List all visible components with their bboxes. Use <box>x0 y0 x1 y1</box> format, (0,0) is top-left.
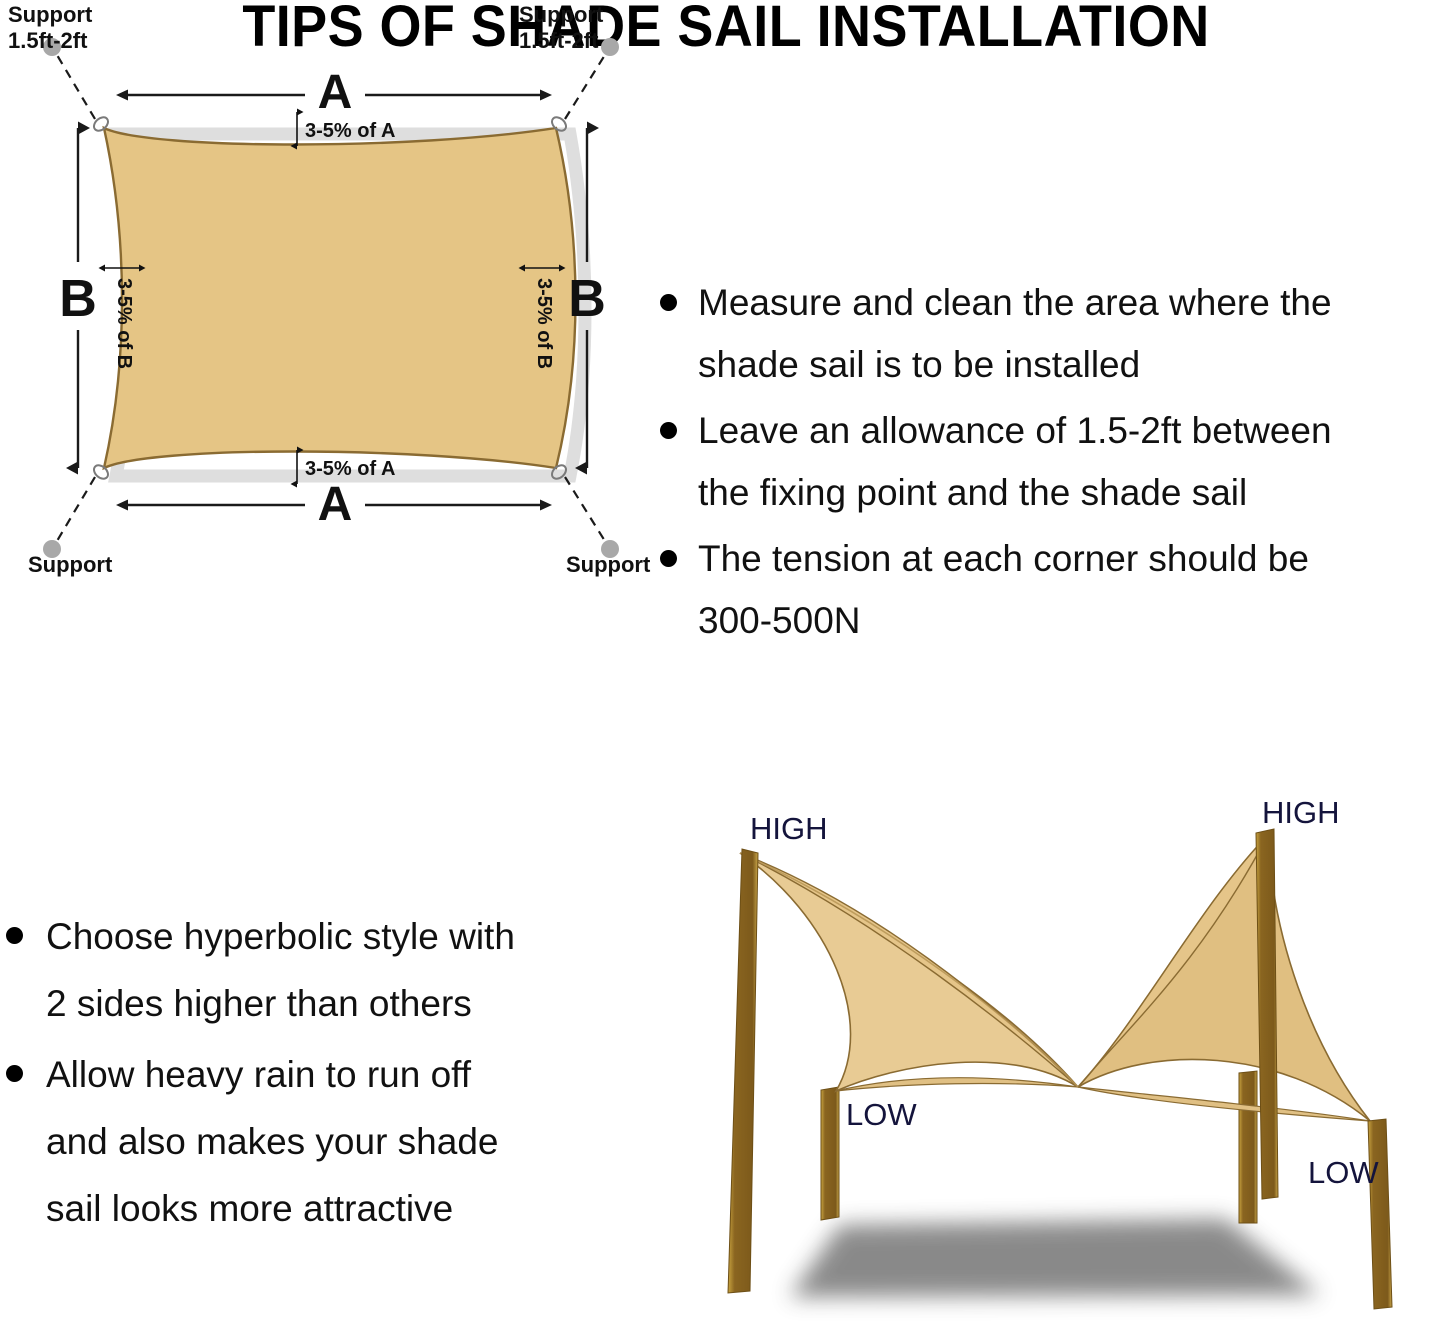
installation-tips-list-top: Measure and clean the area where the sha… <box>652 272 1452 656</box>
curve-callout-a-bottom-label: 3-5% of A <box>305 458 395 480</box>
tip-line: sail looks more attractive <box>46 1188 453 1229</box>
list-item: Choose hyperbolic style with 2 sides hig… <box>0 903 620 1037</box>
curve-callout-b-left-label: 3-5% of B <box>113 278 135 369</box>
tip-line: Leave an allowance of 1.5-2ft between <box>698 410 1332 451</box>
dimension-b-right-label: B <box>568 270 606 328</box>
pole-low-left <box>821 1087 839 1220</box>
pole-low-right <box>1368 1119 1392 1309</box>
tip-line: 2 sides higher than others <box>46 983 472 1024</box>
tip-line: shade sail is to be installed <box>698 344 1140 385</box>
sail-shape <box>104 128 576 468</box>
support-label-line2: 1.5ft-2ft <box>566 578 646 580</box>
support-label-top-left: Support 1.5ft-2ft <box>8 2 93 53</box>
curve-callout-b-right-label: 3-5% of B <box>533 278 555 369</box>
bullet-dot-icon <box>660 422 677 439</box>
bullet-dot-icon <box>6 927 23 944</box>
support-dot-top-right <box>601 38 619 56</box>
pole-high-right <box>1256 829 1278 1199</box>
label-low-right: LOW <box>1308 1155 1379 1190</box>
rectangular-sail-diagram: Support 1.5ft-2ft Support 1.5ft-2ft Supp… <box>0 0 680 580</box>
list-item: Allow heavy rain to run off and also mak… <box>0 1041 620 1242</box>
curve-callout-a-bottom: 3-5% of A <box>297 450 395 484</box>
dimension-a-top-label: A <box>318 66 353 119</box>
hyperbolic-sail-illustration: HIGH HIGH LOW LOW <box>680 795 1452 1325</box>
dimension-b-left: B <box>59 128 97 468</box>
bullet-dot-icon <box>660 294 677 311</box>
support-label-bottom-right: Support 1.5ft-2ft <box>566 552 651 580</box>
support-label-line1: Support <box>566 552 651 577</box>
support-label-top-right: Support 1.5ft-2ft <box>519 2 604 53</box>
tip-line: Allow heavy rain to run off <box>46 1054 471 1095</box>
tip-line: The tension at each corner should be <box>698 538 1309 579</box>
bullet-dot-icon <box>6 1065 23 1082</box>
tip-line: and also makes your shade <box>46 1121 499 1162</box>
label-low-left: LOW <box>846 1097 917 1132</box>
dimension-a-top: A <box>128 66 540 119</box>
tip-line: Measure and clean the area where the <box>698 282 1332 323</box>
tip-line: 300-500N <box>698 600 861 641</box>
list-item: Leave an allowance of 1.5-2ft between th… <box>652 400 1452 524</box>
tip-line: Choose hyperbolic style with <box>46 916 515 957</box>
list-item: The tension at each corner should be 300… <box>652 528 1452 652</box>
label-high-right: HIGH <box>1262 795 1340 830</box>
support-label-line1: Support <box>28 552 113 577</box>
pole-high-left <box>728 849 758 1293</box>
label-high-left: HIGH <box>750 811 828 846</box>
dimension-b-left-label: B <box>59 270 97 328</box>
support-label-line1: Support <box>519 2 604 27</box>
tip-line: the fixing point and the shade sail <box>698 472 1247 513</box>
ground-shadow <box>790 1219 1320 1297</box>
bullet-dot-icon <box>660 550 677 567</box>
installation-tips-list-bottom: Choose hyperbolic style with 2 sides hig… <box>0 903 620 1246</box>
support-label-line2: 1.5ft-2ft <box>8 28 88 53</box>
dimension-a-bottom: A <box>128 478 540 531</box>
support-label-line2: 1.5ft-2ft <box>28 578 108 580</box>
pole-low-right-back <box>1239 1071 1257 1223</box>
curve-callout-b-left: 3-5% of B <box>105 268 139 369</box>
curve-callout-a-top-label: 3-5% of A <box>305 120 395 142</box>
dimension-a-bottom-label: A <box>318 478 353 531</box>
list-item: Measure and clean the area where the sha… <box>652 272 1452 396</box>
support-label-bottom-left: Support 1.5ft-2ft <box>28 552 113 580</box>
support-label-line2: 1.5ft-2ft <box>519 28 599 53</box>
support-label-line1: Support <box>8 2 93 27</box>
